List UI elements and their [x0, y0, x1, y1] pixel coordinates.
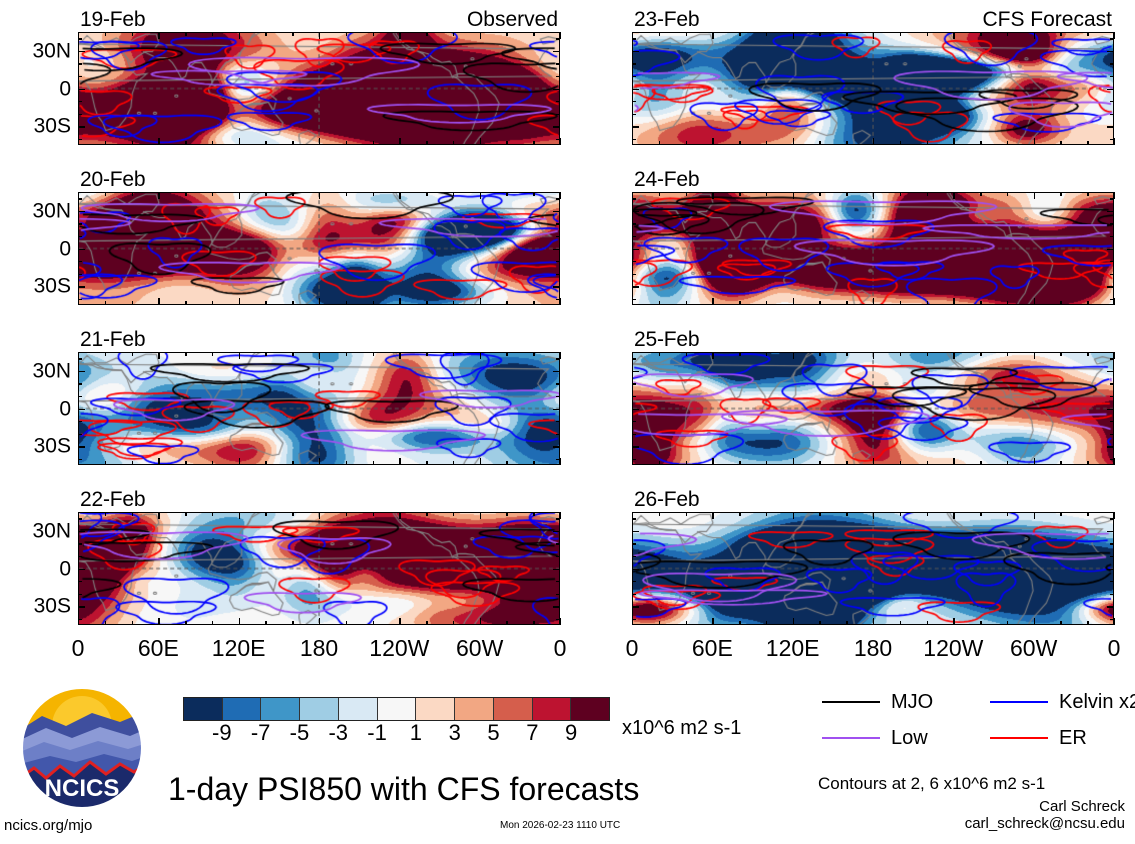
- colorbar-segment: [455, 698, 494, 720]
- x-tick: [506, 192, 507, 196]
- x-tick: [158, 618, 159, 625]
- y-tick: [1110, 63, 1114, 64]
- x-tick: [659, 141, 660, 145]
- x-tick: [132, 621, 133, 625]
- panel-column-heading: CFS Forecast: [982, 9, 1112, 30]
- y-tick: [1110, 223, 1114, 224]
- x-tick: [980, 352, 981, 356]
- y-tick: [556, 139, 560, 140]
- x-tick: [1034, 618, 1035, 625]
- x-tick: [212, 141, 213, 145]
- x-tick: [480, 32, 481, 39]
- y-tick: [78, 556, 82, 557]
- y-tick: [78, 569, 85, 570]
- panel-date-label: 23-Feb: [634, 9, 699, 30]
- x-tick: [900, 621, 901, 625]
- panel-date-label: 21-Feb: [80, 329, 145, 350]
- colorbar-tick-label: 9: [565, 721, 577, 745]
- x-tick: [453, 192, 454, 196]
- x-tick: [453, 352, 454, 356]
- y-tick: [1110, 543, 1114, 544]
- x-tick: [105, 352, 106, 356]
- y-tick: [78, 261, 82, 262]
- x-tick: [319, 32, 320, 39]
- x-tick: [319, 298, 320, 305]
- credit-block: Carl Schreck carl_schreck@ncsu.edu: [830, 798, 1125, 832]
- panel-date-label: 19-Feb: [80, 9, 145, 30]
- x-tick: [739, 192, 740, 196]
- x-tick: [265, 192, 266, 196]
- y-tick: [1107, 211, 1114, 212]
- panel-column-heading: Observed: [467, 9, 558, 30]
- x-axis-tick-label: 120W: [369, 637, 429, 660]
- x-tick: [399, 138, 400, 145]
- y-axis-label-0: 0: [59, 558, 71, 579]
- colorbar-segment: [416, 698, 455, 720]
- y-tick: [632, 76, 636, 77]
- y-tick: [78, 409, 85, 410]
- y-tick: [553, 446, 560, 447]
- legend-label: Kelvin x2: [1059, 692, 1135, 712]
- y-tick: [1110, 114, 1114, 115]
- x-tick: [1087, 352, 1088, 356]
- y-tick: [632, 434, 636, 435]
- x-tick: [292, 512, 293, 516]
- y-tick: [1107, 89, 1114, 90]
- x-tick: [292, 621, 293, 625]
- x-tick: [793, 138, 794, 145]
- x-tick: [399, 192, 400, 199]
- x-tick: [980, 621, 981, 625]
- legend-item-kelvin-x2: Kelvin x2: [990, 692, 1135, 712]
- x-tick: [533, 192, 534, 196]
- y-tick: [78, 126, 85, 127]
- y-tick: [632, 581, 636, 582]
- x-tick: [399, 458, 400, 465]
- y-tick: [78, 358, 82, 359]
- x-tick: [346, 301, 347, 305]
- y-tick: [1110, 556, 1114, 557]
- y-tick: [1110, 261, 1114, 262]
- y-axis-label-0: 0: [59, 78, 71, 99]
- x-tick: [927, 461, 928, 465]
- x-tick: [819, 621, 820, 625]
- x-tick: [399, 298, 400, 305]
- y-tick: [632, 38, 636, 39]
- x-tick: [426, 352, 427, 356]
- x-tick: [506, 512, 507, 516]
- y-tick: [553, 531, 560, 532]
- x-tick: [1087, 621, 1088, 625]
- legend-line-swatch: [822, 701, 880, 703]
- x-tick: [319, 138, 320, 145]
- x-tick: [292, 141, 293, 145]
- colorbar-tick-label: -9: [212, 721, 232, 745]
- y-tick: [1110, 581, 1114, 582]
- x-tick: [346, 141, 347, 145]
- x-tick: [185, 192, 186, 196]
- x-tick: [533, 461, 534, 465]
- y-tick: [1107, 286, 1114, 287]
- y-tick: [78, 531, 85, 532]
- x-tick: [927, 352, 928, 356]
- x-tick: [766, 352, 767, 356]
- x-tick: [766, 32, 767, 36]
- x-tick: [506, 621, 507, 625]
- y-tick: [1110, 236, 1114, 237]
- x-tick: [819, 192, 820, 196]
- y-tick: [632, 236, 636, 237]
- y-axis-label-0: 0: [59, 238, 71, 259]
- y-tick: [632, 409, 639, 410]
- x-tick: [819, 461, 820, 465]
- x-tick: [239, 352, 240, 359]
- x-tick: [480, 618, 481, 625]
- y-tick: [632, 139, 636, 140]
- x-tick: [900, 352, 901, 356]
- legend-label: Low: [891, 728, 928, 748]
- x-tick: [766, 141, 767, 145]
- x-tick: [239, 458, 240, 465]
- x-tick: [686, 621, 687, 625]
- x-tick: [560, 512, 561, 519]
- legend-label: ER: [1059, 728, 1087, 748]
- site-url[interactable]: ncics.org/mjo: [4, 818, 92, 834]
- x-tick: [1114, 618, 1115, 625]
- y-tick: [556, 396, 560, 397]
- y-tick: [78, 396, 82, 397]
- x-tick: [900, 461, 901, 465]
- x-axis-tick-label: 0: [626, 637, 639, 660]
- x-tick: [953, 138, 954, 145]
- x-tick: [712, 298, 713, 305]
- x-tick: [712, 352, 713, 359]
- x-tick: [373, 32, 374, 36]
- y-tick: [553, 249, 560, 250]
- x-tick: [533, 141, 534, 145]
- y-tick: [1110, 101, 1114, 102]
- x-axis-tick-label: 120E: [212, 637, 266, 660]
- x-tick: [158, 138, 159, 145]
- x-tick: [185, 621, 186, 625]
- x-axis-tick-label: 60E: [138, 637, 179, 660]
- x-tick: [686, 192, 687, 196]
- map-plot-area: [632, 512, 1114, 625]
- y-tick: [632, 274, 636, 275]
- x-tick: [373, 512, 374, 516]
- x-tick: [132, 512, 133, 516]
- x-tick: [426, 301, 427, 305]
- x-tick: [927, 32, 928, 36]
- y-tick: [78, 63, 82, 64]
- x-tick: [426, 461, 427, 465]
- ncics-logo-label: NCICS: [45, 775, 120, 802]
- x-tick: [712, 458, 713, 465]
- map-field-canvas: [633, 513, 1113, 624]
- x-tick: [506, 141, 507, 145]
- x-tick: [319, 458, 320, 465]
- x-tick: [185, 352, 186, 356]
- y-tick: [632, 371, 639, 372]
- colorbar-segment: [339, 698, 378, 720]
- y-tick: [78, 223, 82, 224]
- map-plot-area: [632, 32, 1114, 145]
- x-tick: [292, 301, 293, 305]
- x-tick: [873, 32, 874, 39]
- colorbar-segment: [223, 698, 262, 720]
- x-tick: [265, 141, 266, 145]
- x-tick: [1114, 458, 1115, 465]
- x-tick: [873, 298, 874, 305]
- x-tick: [1087, 141, 1088, 145]
- x-tick: [399, 32, 400, 39]
- map-panel-22-feb: 22-Feb30N030S: [78, 490, 560, 625]
- y-tick: [556, 434, 560, 435]
- x-tick: [319, 512, 320, 519]
- x-tick: [212, 621, 213, 625]
- x-tick: [453, 32, 454, 36]
- map-panel-19-feb: 19-FebObserved30N030S: [78, 10, 560, 145]
- panel-date-label: 22-Feb: [80, 489, 145, 510]
- x-tick: [533, 512, 534, 516]
- y-tick: [1110, 383, 1114, 384]
- y-tick: [632, 358, 636, 359]
- y-tick: [632, 126, 639, 127]
- y-tick: [1107, 446, 1114, 447]
- legend-label: MJO: [891, 692, 933, 712]
- map-panel-24-feb: 24-Feb: [632, 170, 1114, 305]
- y-tick: [78, 459, 82, 460]
- y-tick: [556, 261, 560, 262]
- x-tick: [265, 352, 266, 356]
- x-tick: [158, 192, 159, 199]
- render-timestamp: Mon 2026-02-23 1110 UTC: [500, 820, 620, 831]
- y-tick: [1107, 531, 1114, 532]
- x-tick: [132, 352, 133, 356]
- panel-grid: 19-FebObserved30N030S20-Feb30N030S21-Feb…: [0, 0, 1135, 672]
- x-tick: [793, 458, 794, 465]
- panel-date-label: 26-Feb: [634, 489, 699, 510]
- panel-date-label: 25-Feb: [634, 329, 699, 350]
- x-tick: [399, 618, 400, 625]
- y-axis-label-30n: 30N: [32, 200, 71, 221]
- x-tick: [158, 352, 159, 359]
- x-tick: [873, 512, 874, 519]
- map-panel-20-feb: 20-Feb30N030S: [78, 170, 560, 305]
- legend-line-swatch: [822, 737, 880, 739]
- x-tick: [346, 461, 347, 465]
- y-tick: [78, 51, 85, 52]
- x-tick: [212, 352, 213, 356]
- y-axis-label-30s: 30S: [34, 116, 71, 137]
- x-axis-tick-label: 0: [1108, 637, 1121, 660]
- x-tick: [712, 32, 713, 39]
- legend-line-swatch: [990, 737, 1048, 739]
- x-tick: [846, 512, 847, 516]
- y-tick: [556, 223, 560, 224]
- x-tick: [292, 461, 293, 465]
- x-tick: [819, 141, 820, 145]
- x-tick: [239, 512, 240, 519]
- map-panel-23-feb: 23-FebCFS Forecast: [632, 10, 1114, 145]
- colorbar-tick-label: 5: [487, 721, 499, 745]
- x-tick: [659, 512, 660, 516]
- x-tick: [480, 138, 481, 145]
- x-tick: [819, 352, 820, 356]
- x-tick: [560, 352, 561, 359]
- x-tick: [506, 461, 507, 465]
- x-tick: [480, 192, 481, 199]
- x-tick: [453, 461, 454, 465]
- x-tick: [426, 32, 427, 36]
- x-tick: [1060, 32, 1061, 36]
- x-tick: [185, 32, 186, 36]
- x-tick: [980, 32, 981, 36]
- ncics-logo-svg: NCICS: [20, 686, 144, 810]
- map-field-canvas: [633, 193, 1113, 304]
- y-tick: [632, 396, 636, 397]
- x-tick: [1087, 512, 1088, 516]
- y-tick: [556, 543, 560, 544]
- x-tick: [739, 461, 740, 465]
- x-tick: [506, 352, 507, 356]
- contour-legend: MJOKelvin x2LowER: [822, 692, 1132, 754]
- x-tick: [319, 618, 320, 625]
- x-tick: [1060, 141, 1061, 145]
- y-axis-label-30n: 30N: [32, 40, 71, 61]
- map-field-canvas: [79, 193, 559, 304]
- y-axis-label-0: 0: [59, 398, 71, 419]
- x-tick: [659, 192, 660, 196]
- x-tick: [185, 301, 186, 305]
- y-tick: [1110, 459, 1114, 460]
- x-tick: [373, 192, 374, 196]
- x-tick: [265, 32, 266, 36]
- x-tick: [1060, 461, 1061, 465]
- x-tick: [212, 512, 213, 516]
- y-tick: [1110, 594, 1114, 595]
- x-tick: [1060, 301, 1061, 305]
- x-tick: [426, 621, 427, 625]
- y-axis-label-30n: 30N: [32, 520, 71, 541]
- y-tick: [556, 619, 560, 620]
- map-plot-area: [78, 352, 560, 465]
- x-tick: [158, 32, 159, 39]
- y-tick: [78, 211, 85, 212]
- map-field-canvas: [79, 513, 559, 624]
- x-tick: [346, 512, 347, 516]
- x-tick: [373, 461, 374, 465]
- y-tick: [78, 371, 85, 372]
- x-tick: [873, 352, 874, 359]
- x-tick: [953, 458, 954, 465]
- x-tick: [980, 512, 981, 516]
- y-tick: [632, 543, 636, 544]
- x-tick: [819, 512, 820, 516]
- y-tick: [78, 619, 82, 620]
- x-tick: [1060, 352, 1061, 356]
- x-tick: [846, 301, 847, 305]
- y-tick: [78, 434, 82, 435]
- y-tick: [78, 446, 85, 447]
- x-axis-tick-label: 0: [554, 637, 567, 660]
- x-tick: [766, 621, 767, 625]
- x-tick: [1034, 32, 1035, 39]
- x-axis-tick-label: 0: [72, 637, 85, 660]
- x-tick: [1060, 192, 1061, 196]
- x-tick: [846, 141, 847, 145]
- y-tick: [1107, 606, 1114, 607]
- y-tick: [553, 286, 560, 287]
- x-tick: [953, 32, 954, 39]
- x-tick: [659, 352, 660, 356]
- x-tick: [132, 301, 133, 305]
- x-axis-tick-label: 180: [300, 637, 338, 660]
- colorbar-tick-labels: -9-7-5-3-113579: [183, 721, 610, 747]
- x-tick: [873, 458, 874, 465]
- y-tick: [632, 89, 639, 90]
- x-tick: [686, 301, 687, 305]
- x-tick: [105, 141, 106, 145]
- y-axis-label-30s: 30S: [34, 596, 71, 617]
- x-tick: [846, 352, 847, 356]
- x-tick: [953, 352, 954, 359]
- x-tick: [426, 192, 427, 196]
- x-tick: [560, 32, 561, 39]
- x-tick: [739, 141, 740, 145]
- y-tick: [556, 358, 560, 359]
- y-tick: [553, 606, 560, 607]
- y-tick: [632, 286, 639, 287]
- x-tick: [766, 192, 767, 196]
- x-tick: [927, 192, 928, 196]
- x-tick: [739, 621, 740, 625]
- colorbar: -9-7-5-3-113579: [183, 697, 610, 721]
- x-tick: [900, 192, 901, 196]
- x-tick: [927, 512, 928, 516]
- x-tick: [426, 512, 427, 516]
- map-panel-25-feb: 25-Feb: [632, 330, 1114, 465]
- y-axis-label-30s: 30S: [34, 436, 71, 457]
- x-tick: [560, 458, 561, 465]
- x-tick: [346, 192, 347, 196]
- y-tick: [632, 594, 636, 595]
- x-tick: [927, 141, 928, 145]
- colorbar-tick-label: 1: [410, 721, 422, 745]
- y-tick: [1107, 126, 1114, 127]
- y-tick: [78, 606, 85, 607]
- credit-email: carl_schreck@ncsu.edu: [830, 815, 1125, 832]
- x-tick: [1114, 352, 1115, 359]
- ncics-logo[interactable]: NCICS: [20, 686, 144, 810]
- x-tick: [1087, 192, 1088, 196]
- y-tick: [1110, 421, 1114, 422]
- colorbar-segment: [300, 698, 339, 720]
- x-tick: [739, 512, 740, 516]
- y-tick: [78, 286, 85, 287]
- x-tick: [105, 621, 106, 625]
- y-tick: [78, 139, 82, 140]
- y-tick: [556, 274, 560, 275]
- y-tick: [1110, 76, 1114, 77]
- x-tick: [793, 192, 794, 199]
- x-tick: [480, 512, 481, 519]
- x-tick: [453, 512, 454, 516]
- y-tick: [553, 409, 560, 410]
- map-plot-area: [632, 352, 1114, 465]
- x-tick: [158, 298, 159, 305]
- x-axis-tick-label: 60W: [1010, 637, 1057, 660]
